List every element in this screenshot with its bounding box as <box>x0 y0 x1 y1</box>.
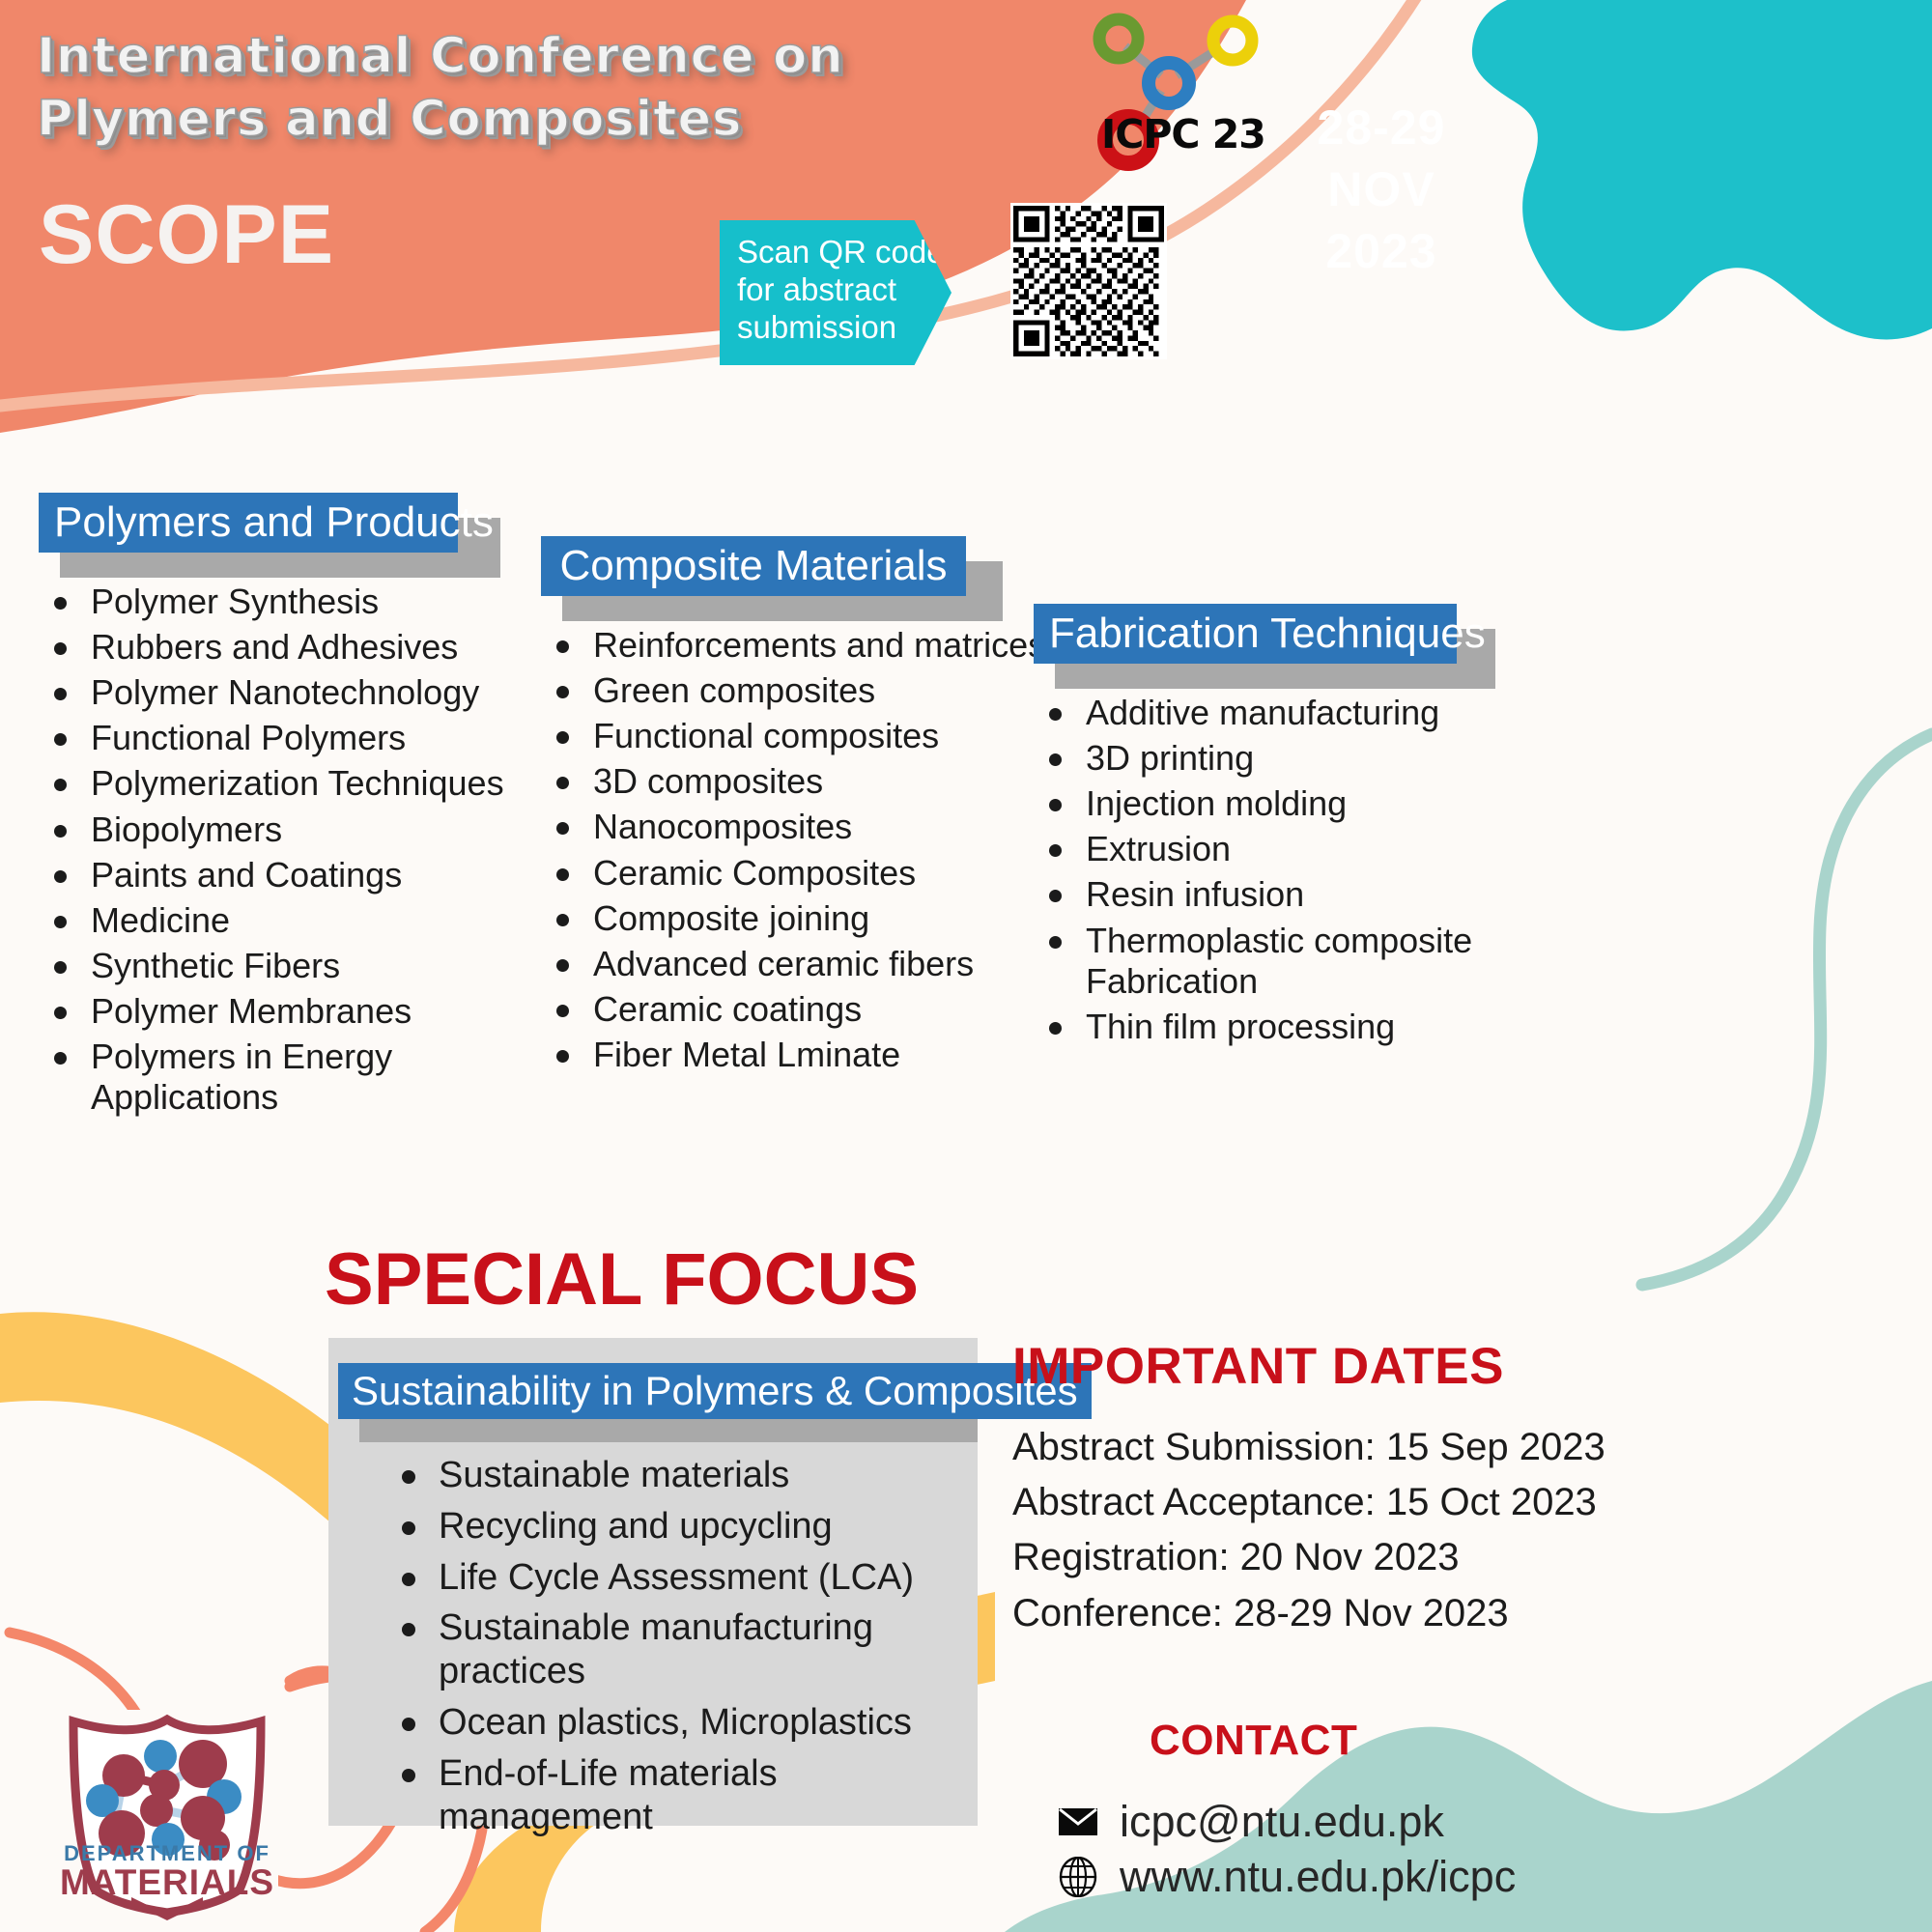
list-item: Fiber Metal Lminate <box>541 1035 1082 1075</box>
focus-header-label: Sustainability in Polymers & Composites <box>338 1363 1092 1419</box>
list-item: Polymer Nanotechnology <box>39 672 580 713</box>
contact-website-row[interactable]: www.ntu.edu.pk/icpc <box>1058 1854 1516 1899</box>
list-item: 3D printing <box>1034 738 1575 779</box>
logo-ring-blue <box>1149 63 1189 103</box>
qr-banner-line-2: for abstract <box>737 271 952 309</box>
conference-title-line-1: International Conference on <box>37 25 906 88</box>
qr-code-image[interactable] <box>1010 203 1167 359</box>
list-item: Polymer Membranes <box>39 991 580 1032</box>
list-item: Recycling and upcycling <box>394 1505 978 1548</box>
topic-header-label: Composite Materials <box>541 536 966 596</box>
list-item: 3D composites <box>541 761 1082 802</box>
globe-icon <box>1058 1857 1098 1897</box>
list-item: Extrusion <box>1034 829 1575 869</box>
list-item: Reinforcements and matrices <box>541 625 1082 666</box>
list-item: End-of-Life materials management <box>394 1752 978 1839</box>
topic-header-wrap: Composite Materials <box>541 536 1082 596</box>
list-item: Injection molding <box>1034 783 1575 824</box>
list-item: Ceramic Composites <box>541 853 1082 894</box>
list-item: Resin infusion <box>1034 874 1575 915</box>
list-item: Composite joining <box>541 898 1082 939</box>
department-of-materials-logo: DEPARTMENT OF MATERIALS <box>56 1710 278 1922</box>
topic-header-label: Fabrication Techniques <box>1034 604 1457 664</box>
date-line-2: 2023 <box>1265 220 1497 282</box>
topic-list: Polymer Synthesis Rubbers and Adhesives … <box>39 582 580 1118</box>
topic-column-fabrication-techniques: Fabrication Techniques Additive manufact… <box>1034 604 1575 1052</box>
page-title: International Conference on Plymers and … <box>37 25 906 152</box>
list-item: Ceramic coatings <box>541 989 1082 1030</box>
conference-poster: International Conference on Plymers and … <box>0 0 1932 1932</box>
qr-banner-line-3: submission <box>737 309 952 347</box>
topic-header-label: Polymers and Products <box>39 493 458 553</box>
important-dates-title: IMPORTANT DATES <box>1012 1341 1504 1392</box>
list-item: Biopolymers <box>39 810 580 850</box>
list-item: Sustainable materials <box>394 1454 978 1497</box>
contact-website: www.ntu.edu.pk/icpc <box>1120 1854 1516 1899</box>
list-item: Conference: 28-29 Nov 2023 <box>1012 1586 1605 1641</box>
list-item: Thermoplastic composite Fabrication <box>1034 921 1575 1002</box>
topic-column-polymers-and-products: Polymers and Products Polymer Synthesis … <box>39 493 580 1122</box>
list-item: Abstract Acceptance: 15 Oct 2023 <box>1012 1475 1605 1530</box>
topic-column-composite-materials: Composite Materials Reinforcements and m… <box>541 536 1082 1080</box>
list-item: Sustainable manufacturing practices <box>394 1606 978 1693</box>
qr-instruction-banner: Scan QR code for abstract submission <box>720 220 952 365</box>
list-item: Green composites <box>541 670 1082 711</box>
focus-list: Sustainable materials Recycling and upcy… <box>394 1454 978 1839</box>
important-dates-list: Abstract Submission: 15 Sep 2023 Abstrac… <box>1012 1420 1605 1641</box>
special-focus-title: SPECIAL FOCUS <box>325 1243 919 1317</box>
list-item: Additive manufacturing <box>1034 693 1575 733</box>
topic-header-wrap: Polymers and Products <box>39 493 580 553</box>
list-item: Polymer Synthesis <box>39 582 580 622</box>
dept-logo-line-2: MATERIALS <box>56 1862 278 1903</box>
topic-header-wrap: Fabrication Techniques <box>1034 604 1575 664</box>
topic-list: Reinforcements and matrices Green compos… <box>541 625 1082 1075</box>
logo-ring-yellow <box>1213 21 1252 60</box>
conference-date-badge: 28-29 NOV 2023 <box>1265 97 1497 282</box>
list-item: Thin film processing <box>1034 1007 1575 1047</box>
list-item: Ocean plastics, Microplastics <box>394 1701 978 1745</box>
list-item: Polymers in Energy Applications <box>39 1037 580 1118</box>
list-item: Abstract Submission: 15 Sep 2023 <box>1012 1420 1605 1475</box>
contact-email-row[interactable]: icpc@ntu.edu.pk <box>1058 1799 1516 1844</box>
contact-title: CONTACT <box>1150 1719 1357 1762</box>
list-item: Registration: 20 Nov 2023 <box>1012 1530 1605 1585</box>
list-item: Polymerization Techniques <box>39 763 580 804</box>
list-item: Rubbers and Adhesives <box>39 627 580 668</box>
list-item: Advanced ceramic fibers <box>541 944 1082 984</box>
topic-list: Additive manufacturing 3D printing Injec… <box>1034 693 1575 1047</box>
list-item: Paints and Coatings <box>39 855 580 895</box>
logo-ring-green <box>1099 19 1138 58</box>
list-item: Synthetic Fibers <box>39 946 580 986</box>
list-item: Medicine <box>39 900 580 941</box>
conference-title-line-2: Plymers and Composites <box>37 88 906 151</box>
icpc-logo-text: ICPC 23 <box>1101 111 1265 157</box>
contact-email: icpc@ntu.edu.pk <box>1120 1799 1444 1844</box>
qr-banner-line-1: Scan QR code <box>737 234 952 271</box>
special-focus-panel: Sustainability in Polymers & Composites … <box>328 1338 978 1826</box>
envelope-icon <box>1058 1802 1098 1842</box>
date-line-1: 28-29 NOV <box>1265 97 1497 220</box>
list-item: Functional Polymers <box>39 718 580 758</box>
icpc-logo <box>1053 10 1294 184</box>
scope-heading: SCOPE <box>39 193 334 276</box>
qr-code-matrix <box>1013 206 1164 356</box>
list-item: Nanocomposites <box>541 807 1082 847</box>
focus-header-wrap: Sustainability in Polymers & Composites <box>338 1363 978 1419</box>
list-item: Life Cycle Assessment (LCA) <box>394 1556 978 1600</box>
list-item: Functional composites <box>541 716 1082 756</box>
contact-details: icpc@ntu.edu.pk www.ntu.edu.pk/icpc <box>1058 1799 1516 1910</box>
